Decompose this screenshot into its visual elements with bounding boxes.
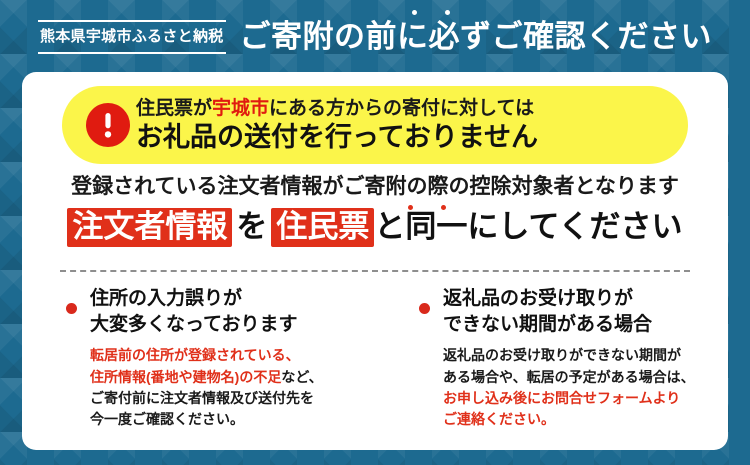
alert-line-1-suffix: にある方からの寄付に対しては [269, 98, 534, 119]
column-body: 返礼品のお受け取りができない期間が ある場合や、転居の予定がある場合は、 お申し… [443, 345, 716, 430]
statement-connector: を [232, 209, 271, 244]
column-heading-line-1: 住所の入力誤りが [90, 286, 363, 312]
alert-line-2: お礼品の送付を行っておりません [136, 122, 538, 152]
brand-rule-bottom [38, 52, 226, 54]
column-body-line-2-red: 住所情報(番地や建物名)の不足 [90, 369, 281, 385]
brand-label: 熊本県宇城市ふるさと納税 [38, 22, 226, 52]
column-body-line-2: ある場合や、転居の予定がある場合は、 [443, 367, 716, 388]
bullet-column-delivery-unavailable: 返礼品のお受け取りが できない期間がある場合 返礼品のお受け取りができない期間が… [375, 286, 728, 431]
content-card: 住民票が宇城市にある方からの寄付に対しては お礼品の送付を行っておりません 登録… [22, 72, 728, 450]
column-heading: 返礼品のお受け取りが できない期間がある場合 [443, 286, 716, 338]
column-body-line-3: ご寄付前に注文者情報及び送付先を [90, 388, 363, 409]
column-heading-line-2: できない期間がある場合 [443, 312, 716, 338]
column-body-line-4: 今一度ご確認ください。 [90, 409, 363, 430]
chip-residence-certificate: 住民票 [271, 208, 374, 247]
column-heading-line-1: 返礼品のお受け取りが [443, 286, 716, 312]
column-body-line-3: お申し込み後にお問合せフォームより [443, 388, 716, 409]
alert-line-1-prefix: 住民票が [136, 98, 212, 119]
emphasis-dot-icon-title-1 [412, 10, 417, 15]
column-body-line-2-black: など、 [281, 369, 322, 385]
column-body-line-1: 返礼品のお受け取りができない期間が [443, 345, 716, 366]
emphasis-dot-icon-title-2 [445, 10, 450, 15]
dashed-divider [60, 270, 690, 272]
column-heading: 住所の入力誤りが 大変多くなっております [90, 286, 363, 338]
brand-block: 熊本県宇城市ふるさと納税 [38, 18, 226, 54]
alert-text-block: 住民票が宇城市にある方からの寄付に対しては お礼品の送付を行っておりません [136, 98, 538, 153]
column-heading-line-2: 大変多くなっております [90, 312, 363, 338]
furusato-notice-banner: 熊本県宇城市ふるさと納税 ご寄附の前に必ずご確認ください 住民票が宇城市にある方… [0, 0, 750, 465]
bullet-columns: 住所の入力誤りが 大変多くなっております 転居前の住所が登録されている、 住所情… [22, 286, 728, 431]
column-body-line-2: 住所情報(番地や建物名)の不足など、 [90, 367, 363, 388]
alert-city-highlight: 宇城市 [212, 98, 269, 119]
column-body: 転居前の住所が登録されている、 住所情報(番地や建物名)の不足など、 ご寄付前に… [90, 345, 363, 430]
banner-header: 熊本県宇城市ふるさと納税 ご寄附の前に必ずご確認ください [0, 0, 750, 72]
statement-line-1: 登録されている注文者情報がご寄附の際の控除対象者となります [22, 176, 728, 197]
column-body-line-1: 転居前の住所が登録されている、 [90, 345, 363, 366]
chip-orderer-info: 注文者情報 [67, 208, 232, 247]
bullet-dot-icon [419, 303, 430, 314]
exclamation-circle-icon [86, 103, 130, 147]
bullet-dot-icon [66, 303, 77, 314]
statement-tail: と同一にしてください [374, 209, 682, 244]
alert-line-1: 住民票が宇城市にある方からの寄付に対しては [136, 98, 538, 119]
column-body-line-4: ご連絡ください。 [443, 409, 716, 430]
alert-banner: 住民票が宇城市にある方からの寄付に対しては お礼品の送付を行っておりません [62, 86, 688, 164]
bullet-column-address-error: 住所の入力誤りが 大変多くなっております 転居前の住所が登録されている、 住所情… [22, 286, 375, 431]
statement-line-2: 注文者情報を住民票と同一にしてください [67, 210, 682, 245]
statement-block: 登録されている注文者情報がご寄附の際の控除対象者となります 注文者情報を住民票と… [22, 176, 728, 245]
page-title: ご寄附の前に必ずご確認ください [240, 21, 713, 52]
header-title-wrap: ご寄附の前に必ずご確認ください [240, 21, 713, 52]
